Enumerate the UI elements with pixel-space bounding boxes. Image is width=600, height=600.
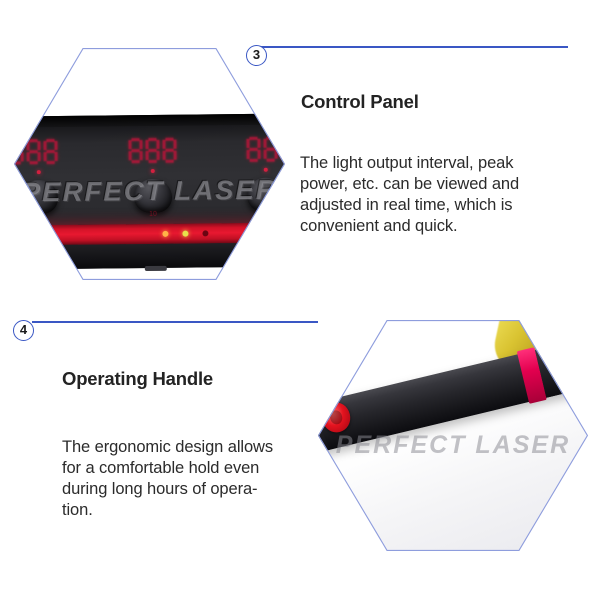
led-laser-icon bbox=[182, 231, 188, 237]
led-power-icon bbox=[162, 231, 168, 237]
indicator-strip bbox=[14, 222, 285, 245]
seg-digit bbox=[26, 139, 40, 164]
description-line: The light output interval, peak bbox=[300, 153, 585, 174]
description-line: The ergonomic design allows bbox=[62, 437, 337, 458]
seg-digit bbox=[128, 138, 142, 163]
knob-led-icon bbox=[150, 169, 154, 173]
operating-handle-image: PERFECT LASER bbox=[318, 320, 588, 551]
panel-foot-tab bbox=[144, 266, 166, 271]
seg-digit bbox=[247, 137, 261, 162]
knob-row: 10 bbox=[14, 166, 285, 221]
operating-handle-clip: PERFECT LASER bbox=[318, 320, 588, 551]
handle-vent-hole bbox=[557, 377, 561, 381]
section-3-badge: 3 bbox=[246, 45, 267, 66]
segment-display-2 bbox=[128, 138, 176, 164]
seg-digit bbox=[145, 138, 159, 163]
section-3-rule bbox=[256, 46, 568, 48]
rotary-knob bbox=[20, 180, 58, 214]
strip-knob bbox=[266, 227, 283, 244]
panel-housing: 10 PERFECT LASER bbox=[14, 114, 285, 270]
handle-grip bbox=[318, 404, 330, 459]
seg-digit bbox=[14, 139, 24, 164]
handle-vent-hole bbox=[548, 358, 552, 362]
knob-cell bbox=[240, 166, 285, 219]
handle-vent-hole bbox=[572, 370, 576, 374]
seg-digit bbox=[162, 138, 176, 163]
description-line: convenient and quick. bbox=[300, 216, 585, 237]
operating-handle-description: The ergonomic design allows for a comfor… bbox=[62, 437, 337, 521]
control-panel-image: 10 PERFECT LASER bbox=[14, 48, 285, 280]
seg-digit bbox=[281, 136, 285, 161]
segment-display-1 bbox=[14, 139, 58, 165]
control-panel-hexagon-frame: 10 PERFECT LASER bbox=[14, 48, 285, 280]
control-panel-title: Control Panel bbox=[301, 91, 419, 113]
handle-housing bbox=[318, 339, 588, 461]
section-4-badge: 4 bbox=[13, 320, 34, 341]
panel-footer bbox=[14, 242, 285, 270]
description-line: power, etc. can be viewed and bbox=[300, 174, 585, 195]
rotary-knob bbox=[133, 179, 171, 213]
description-line: adjusted in real time, which is bbox=[300, 195, 585, 216]
handle-vent-hole bbox=[562, 351, 566, 355]
knob-cell: 10 bbox=[126, 167, 179, 220]
seg-digit bbox=[264, 137, 278, 162]
seg-digit bbox=[43, 139, 57, 164]
indicator-leds bbox=[162, 231, 208, 237]
handle-trigger-button bbox=[319, 400, 354, 436]
led-ready-icon bbox=[202, 231, 208, 237]
knob-led-icon bbox=[264, 168, 268, 172]
control-panel-clip: 10 PERFECT LASER bbox=[14, 48, 285, 280]
section-4-rule bbox=[32, 321, 318, 323]
panel-top-bevel bbox=[14, 114, 285, 128]
description-line: tion. bbox=[62, 500, 337, 521]
operating-handle-hexagon-frame: PERFECT LASER bbox=[318, 320, 588, 551]
description-line: during long hours of opera- bbox=[62, 479, 337, 500]
control-panel-description: The light output interval, peak power, e… bbox=[300, 153, 585, 237]
knob-label: 10 bbox=[140, 211, 166, 218]
knob-cell bbox=[14, 168, 65, 221]
segment-display-row bbox=[14, 132, 285, 169]
segment-display-3 bbox=[247, 136, 285, 162]
description-line: for a comfortable hold even bbox=[62, 458, 337, 479]
rotary-knob bbox=[247, 178, 285, 212]
operating-handle-title: Operating Handle bbox=[62, 368, 213, 390]
product-feature-page: 10 PERFECT LASER bbox=[0, 0, 600, 600]
knob-led-icon bbox=[37, 170, 41, 174]
